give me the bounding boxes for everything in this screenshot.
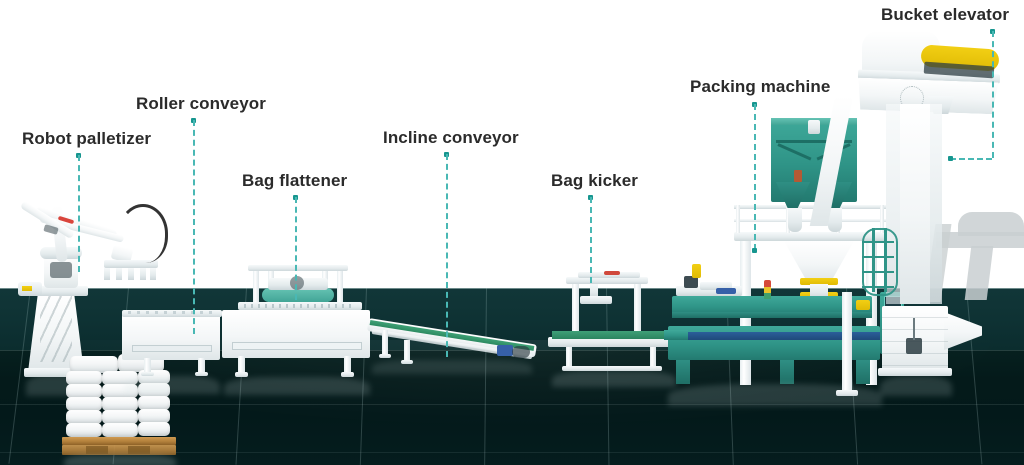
label-bag-kicker: Bag kicker (551, 171, 638, 191)
gripper-cup (140, 268, 146, 280)
flattener-drive-motor (290, 276, 304, 290)
bag (102, 423, 138, 437)
bag (66, 384, 102, 398)
elevator-tension-rod (913, 318, 915, 340)
packer-leg (856, 360, 870, 384)
incline-reflection (372, 360, 532, 374)
railing-post (736, 205, 740, 233)
incline-foot (379, 354, 391, 358)
elevator-base-plate (878, 368, 952, 376)
sewing-head-indicator (692, 264, 701, 278)
discharge-spout (788, 208, 802, 232)
packer-leg (676, 360, 690, 384)
label-bag-flattener: Bag flattener (242, 171, 347, 191)
packer-yellow-guard (856, 300, 870, 310)
bag (66, 371, 102, 385)
label-incline-conveyor: Incline conveyor (383, 128, 519, 148)
roller-conveyor-window (132, 345, 212, 352)
gripper-cup (104, 268, 110, 280)
flattener-foot (341, 372, 354, 377)
leader-dot-end (948, 156, 953, 161)
flattener-cabinet (222, 310, 370, 358)
packer-infeed-conveyor (664, 330, 688, 340)
label-bucket-elevator: Bucket elevator (881, 5, 1009, 25)
packer-leg (780, 360, 794, 384)
bag (102, 397, 138, 411)
leader-line (754, 104, 756, 250)
incline-leg (382, 330, 388, 356)
palletizer-base-truss (40, 296, 72, 362)
pallet-reflection (64, 455, 176, 465)
diagram-canvas: Robot palletizer Roller conveyor Bag fla… (0, 0, 1024, 465)
label-packing-machine: Packing machine (690, 77, 830, 97)
roller-conveyor-reflection (124, 376, 220, 394)
leader-dot-end (752, 248, 757, 253)
flattener-cabinet-window (232, 342, 362, 350)
flattener-bed-rollers (244, 304, 356, 308)
elevator-column-foot (836, 390, 858, 396)
kicker-reflection (552, 371, 676, 387)
ladder-rail (872, 228, 875, 292)
pallet-stringer (62, 445, 176, 455)
gripper-cup (128, 268, 134, 280)
ladder-cage-hoops (862, 228, 894, 292)
bag (66, 423, 102, 437)
palletizer-motor (50, 262, 72, 278)
gripper-cup (116, 268, 122, 280)
bag (66, 397, 102, 411)
incline-leg (404, 340, 410, 362)
scene (0, 0, 1024, 465)
flattener-top-beam (248, 265, 348, 271)
bag (138, 409, 170, 423)
kicker-indicator (604, 271, 620, 275)
bag (66, 410, 102, 424)
label-robot-palletizer: Robot palletizer (22, 129, 151, 149)
leader-line (295, 197, 297, 300)
flattener-reflection (224, 377, 370, 395)
leader-line (193, 120, 195, 334)
label-roller-conveyor: Roller conveyor (136, 94, 266, 114)
hopper-gate-cylinder (794, 170, 802, 182)
kicker-gantry-beam (566, 277, 648, 284)
kicker-paddle (580, 296, 612, 304)
bag (102, 410, 138, 424)
palletizer-cable (118, 204, 168, 263)
palletizer-label-plate (22, 286, 32, 291)
hopper-inlet (808, 120, 820, 134)
leader-line (992, 31, 994, 158)
leader-line (446, 154, 448, 357)
bag (138, 396, 170, 410)
flattener-foot (235, 372, 248, 377)
incline-conveyor-gearbox (512, 346, 530, 358)
platform-handrail (734, 205, 886, 209)
pallet-gap (86, 446, 108, 454)
flattener-press-roller (262, 288, 334, 302)
roller-conveyor-body (122, 314, 220, 360)
leader-line (78, 155, 80, 272)
incline-conveyor-drive-box (497, 345, 513, 356)
kicker-conveyor-belt (552, 331, 674, 339)
sewing-head-drive (716, 288, 736, 294)
leader-line-horizontal (950, 158, 992, 160)
roller-set (128, 311, 216, 314)
elevator-casing-side (930, 104, 942, 304)
pallet-deck (62, 437, 176, 445)
elevator-reflection (880, 376, 952, 396)
bag (138, 422, 170, 436)
tower-light-red (764, 280, 771, 287)
pallet-gap (128, 446, 150, 454)
tower-light-green (764, 293, 771, 299)
ladder-rail (884, 228, 887, 292)
leader-line (590, 197, 592, 283)
gripper-cup (150, 268, 156, 280)
elevator-support-column (842, 292, 852, 394)
